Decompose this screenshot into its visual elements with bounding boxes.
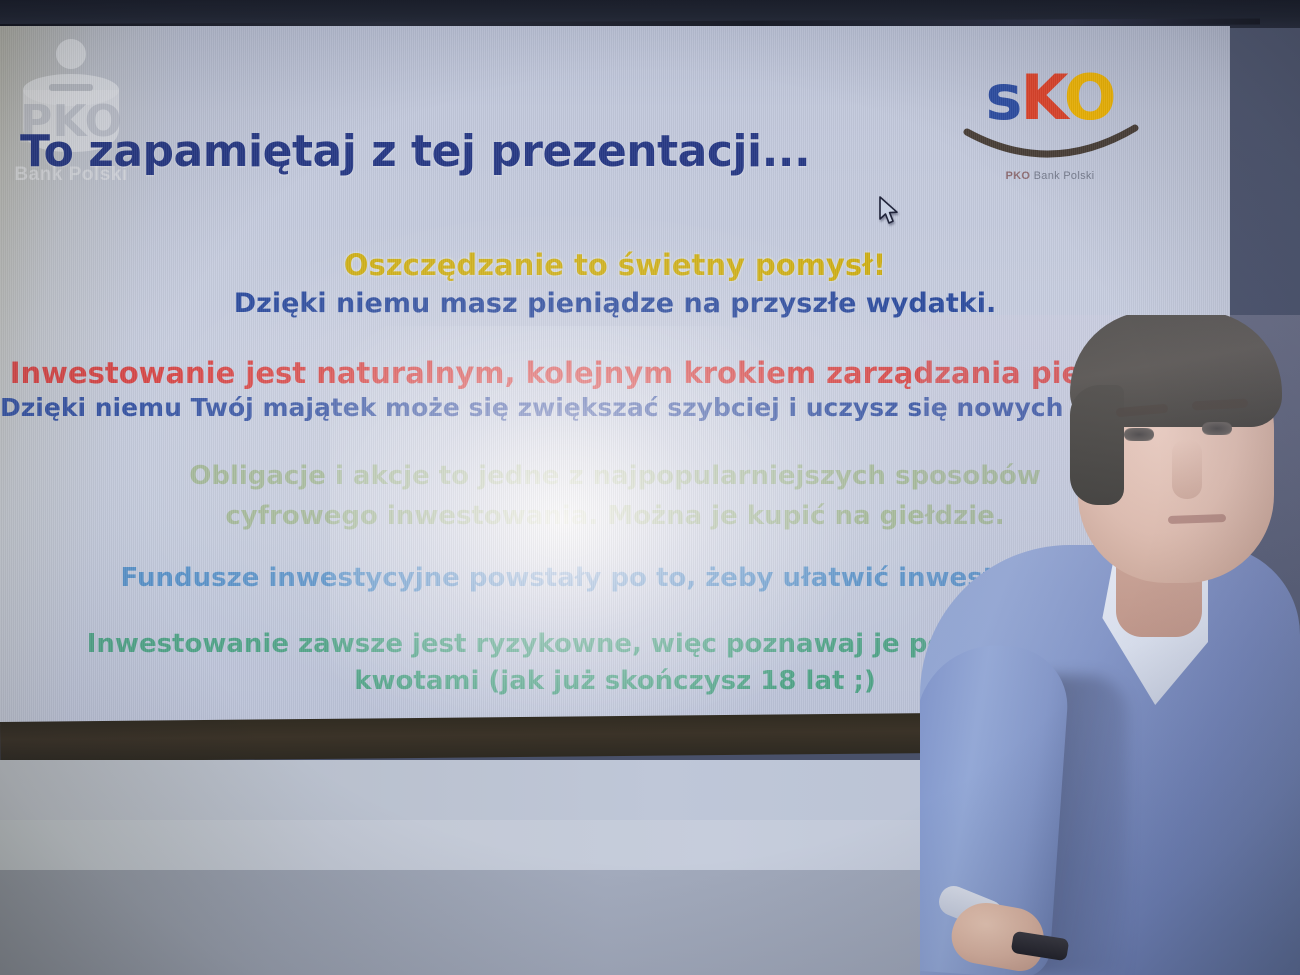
sko-logo-caption: PKO Bank Polski	[955, 170, 1145, 182]
presenter-nose	[1172, 439, 1202, 499]
projection-photo: PKO Bank Polski sKO PKO Bank Polski To z…	[0, 0, 1300, 975]
sko-smile-icon	[961, 124, 1141, 170]
sko-caption-brand: PKO	[1006, 170, 1031, 182]
presenter-eye-left	[1124, 428, 1154, 441]
sko-caption-rest: Bank Polski	[1034, 170, 1095, 182]
saving-heading: Oszczędzanie to świetny pomysł!	[0, 248, 1230, 282]
presenter-eye-right	[1202, 422, 1232, 435]
seated-presenter	[920, 315, 1300, 975]
screen-bottom-frame-bar	[0, 712, 1030, 762]
slide-title: To zapamiętaj z tej prezentacji...	[20, 126, 810, 177]
presenter-hair-side	[1070, 385, 1124, 505]
sko-logo: sKO PKO Bank Polski	[955, 62, 1145, 197]
